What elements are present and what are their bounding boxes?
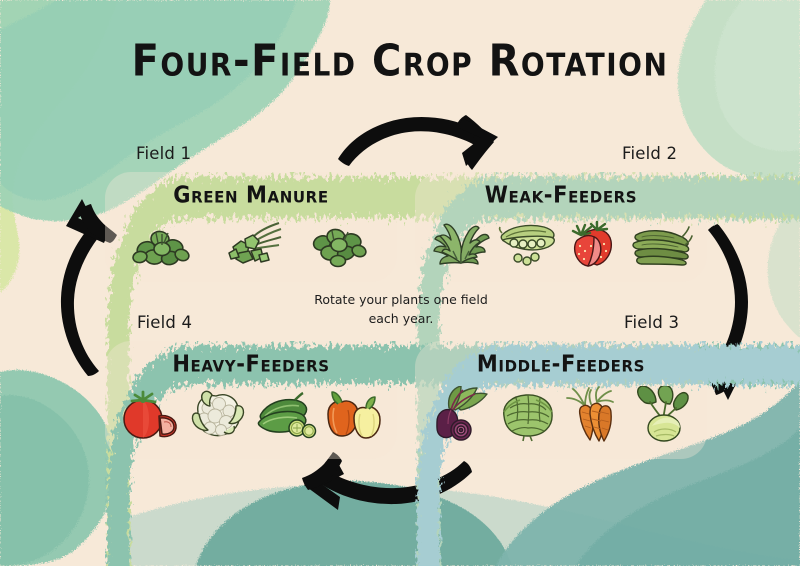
field-4-title: Heavy-Feeders [172,351,329,377]
tomato-icon [119,386,183,444]
field-2-title: Weak-Feeders [485,182,637,208]
field-3-crops [415,376,707,459]
center-note: Rotate your plants one field each year. [296,290,506,329]
center-note-line-1: Rotate your plants one field [296,290,506,309]
zucchini-icon [253,386,317,444]
arrow-bottom-left-icon [302,452,472,510]
field-box-3[interactable]: Middle-Feeders [415,341,707,459]
lettuce-icon [496,386,560,444]
center-note-line-2: each year. [296,309,506,328]
field-1-crops [105,207,397,282]
peas-icon [496,213,560,271]
cauliflower-icon [186,386,250,444]
strawberries-icon [563,213,627,271]
kohlrabi-icon [630,386,694,444]
clover-plant-icon [130,213,194,271]
field-label-1: Field 1 [136,144,191,163]
arrow-top-right-icon [338,115,498,170]
field-label-2: Field 2 [622,144,677,163]
carrots-icon [563,386,627,444]
field-box-1[interactable]: Green Manure [105,172,397,282]
beetroot-icon [429,386,493,444]
field-3-title: Middle-Feeders [477,351,645,377]
field-label-4: Field 4 [137,313,192,332]
bell-peppers-icon [320,386,384,444]
field-4-crops [105,376,397,459]
poster-canvas: Four-Field Crop Rotation Rotate [0,0,800,566]
arugula-icon [429,213,493,271]
page-title: Four-Field Crop Rotation [0,36,800,87]
field-box-4[interactable]: Heavy-Feeders [105,341,397,459]
field-1-title: Green Manure [173,182,328,208]
green-beans-icon [630,213,694,271]
field-label-3: Field 3 [624,313,679,332]
field-2-crops [415,207,707,282]
field-box-2[interactable]: Weak-Feeders [415,172,707,282]
clover-plant-icon [308,213,372,271]
chopped-greens-icon [219,213,283,271]
